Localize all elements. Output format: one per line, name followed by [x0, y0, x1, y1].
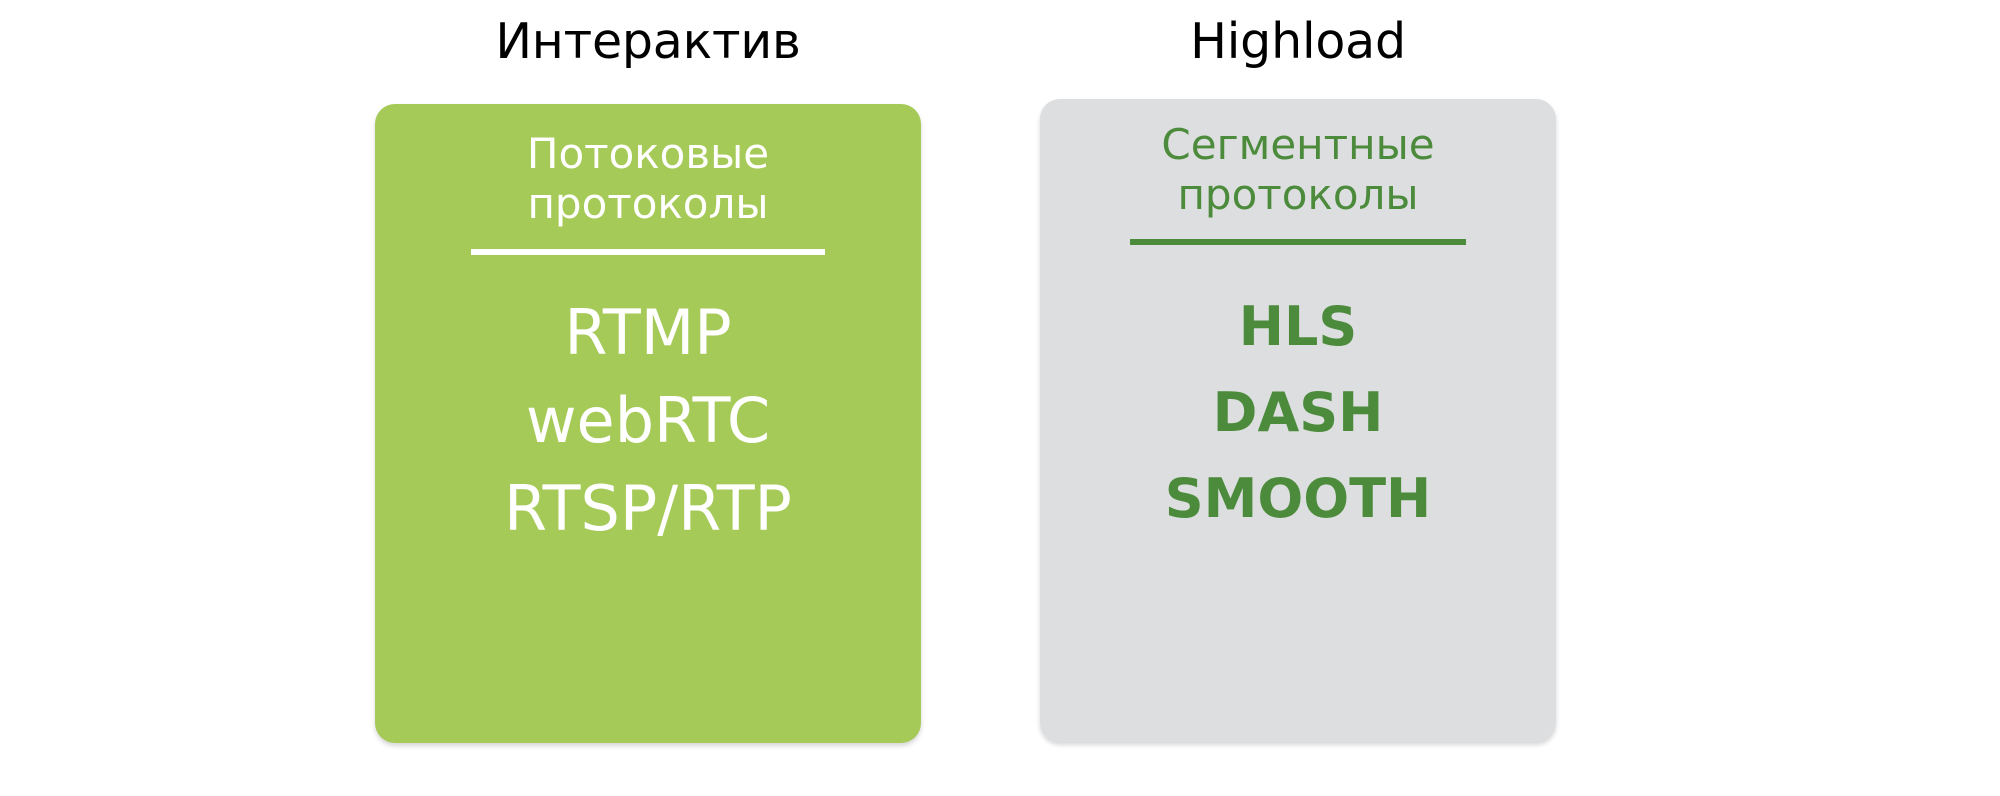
column-title-interactive: Интерактив: [495, 0, 800, 75]
protocol-list-segmented: HLS DASH SMOOTH: [1040, 300, 1556, 558]
column-interactive: Интерактив Потоковые протоколы RTMP webR…: [375, 0, 921, 743]
card-subtitle-streaming: Потоковые протоколы: [527, 104, 769, 228]
column-highload: Highload Сегментные протоколы HLS DASH S…: [1040, 0, 1556, 742]
card-subtitle-segmented: Сегментные протоколы: [1161, 99, 1434, 219]
protocol-item: HLS: [1040, 300, 1556, 354]
protocol-list-streaming: RTMP webRTC RTSP/RTP: [375, 302, 921, 566]
protocol-item: webRTC: [375, 390, 921, 452]
card-divider-green: [471, 249, 826, 255]
diagram-canvas: Интерактив Потоковые протоколы RTMP webR…: [0, 0, 2000, 796]
protocol-item: DASH: [1040, 386, 1556, 440]
protocol-item: RTMP: [375, 302, 921, 364]
card-streaming-protocols: Потоковые протоколы RTMP webRTC RTSP/RTP: [375, 104, 921, 743]
protocol-item: RTSP/RTP: [375, 478, 921, 540]
card-divider-gray: [1130, 239, 1465, 245]
column-title-highload: Highload: [1190, 0, 1406, 75]
card-segmented-protocols: Сегментные протоколы HLS DASH SMOOTH: [1040, 99, 1556, 742]
protocol-item: SMOOTH: [1040, 472, 1556, 526]
